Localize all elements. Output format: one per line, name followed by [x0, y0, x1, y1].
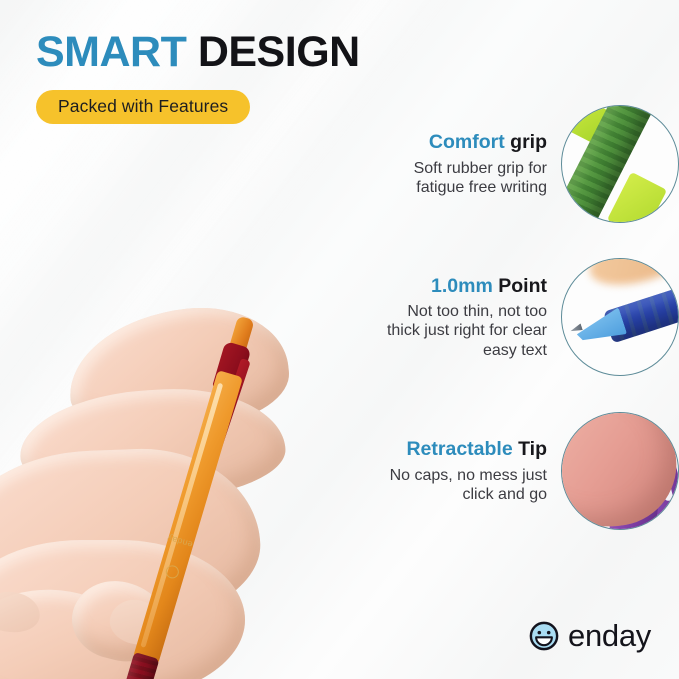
feature-heading-highlight: 1.0mm	[431, 275, 493, 297]
feature-image-retractable-tip	[561, 412, 679, 530]
smiley-face-icon	[529, 621, 559, 651]
features-badge: Packed with Features	[36, 90, 250, 125]
blue-pen-tip-photo	[562, 259, 678, 375]
feature-body: Not too thin, not too thick just right f…	[342, 302, 547, 361]
feature-body-line: easy text	[483, 342, 547, 359]
feature-heading-rest: Tip	[518, 438, 547, 460]
feature-text-block: Comfort grip Soft rubber grip for fatigu…	[342, 130, 561, 197]
feature-body-line: thick just right for clear	[387, 322, 547, 339]
feature-body: Soft rubber grip for fatigue free writin…	[342, 159, 547, 198]
feature-item-point-size: 1.0mm Point Not too thin, not too thick …	[330, 258, 679, 376]
infographic-page: SMART DESIGN Packed with Features enday	[0, 0, 679, 679]
feature-image-green-grip	[561, 105, 679, 223]
feature-heading: 1.0mm Point	[342, 274, 547, 298]
page-title-highlight: SMART	[36, 28, 186, 76]
blurred-background-pen	[584, 258, 679, 295]
feature-body: No caps, no mess just click and go	[342, 466, 547, 505]
feature-body-line: No caps, no mess just	[390, 467, 547, 484]
feature-heading: Retractable Tip	[342, 437, 547, 461]
green-grip-photo	[562, 106, 678, 222]
brand-wordmark: enday	[568, 620, 651, 651]
page-title: SMART DESIGN	[36, 30, 496, 76]
feature-item-comfort-grip: Comfort grip Soft rubber grip for fatigu…	[330, 105, 679, 223]
feature-heading-rest: Point	[498, 275, 547, 297]
feature-text-block: Retractable Tip No caps, no mess just cl…	[342, 437, 561, 504]
feature-heading: Comfort grip	[342, 130, 547, 154]
feature-item-retractable-tip: Retractable Tip No caps, no mess just cl…	[330, 412, 679, 530]
feature-heading-rest: grip	[510, 131, 547, 153]
feature-body-line: click and go	[463, 486, 548, 503]
feature-text-block: 1.0mm Point Not too thin, not too thick …	[342, 274, 561, 361]
page-title-rest: DESIGN	[198, 28, 360, 76]
feature-heading-highlight: Comfort	[429, 131, 505, 153]
feature-body-line: Not too thin, not too	[407, 303, 547, 320]
thumb-click-photo	[562, 413, 678, 529]
feature-image-blue-tip	[561, 258, 679, 376]
feature-body-line: fatigue free writing	[416, 179, 547, 196]
product-photo: enday	[0, 150, 345, 660]
brand-logo: enday	[529, 620, 651, 651]
feature-heading-highlight: Retractable	[406, 438, 512, 460]
feature-body-line: Soft rubber grip for	[414, 160, 547, 177]
